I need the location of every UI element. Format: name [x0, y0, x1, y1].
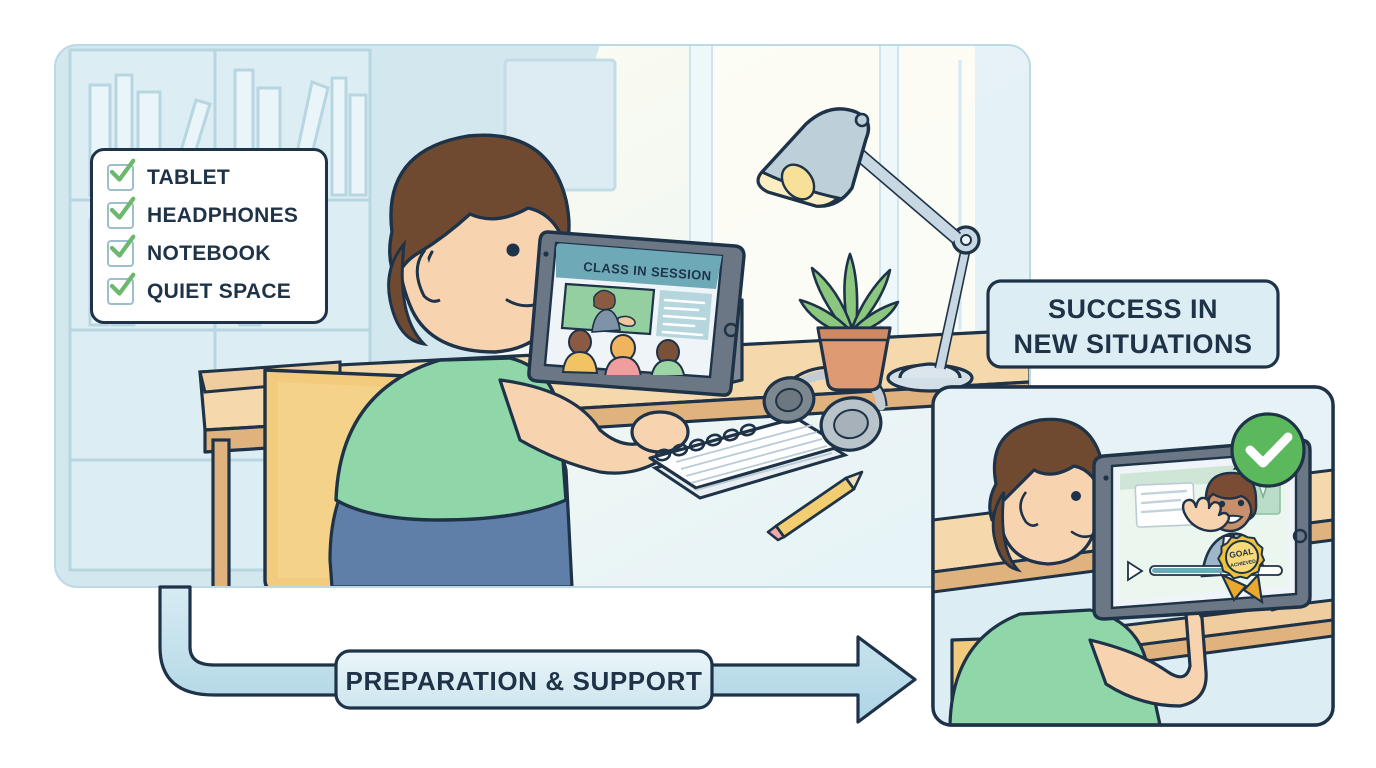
class-tablet[interactable]: CLASS IN SESSION: [529, 232, 744, 395]
checkbox-checked-icon[interactable]: [107, 240, 134, 267]
checkbox-checked-icon[interactable]: [107, 202, 134, 229]
list-item[interactable]: TABLET: [107, 164, 311, 191]
illustration-canvas: CLASS IN SESSION: [0, 0, 1376, 768]
teacher-video-tile: [562, 284, 654, 334]
checklist-label: QUIET SPACE: [147, 280, 291, 304]
list-item[interactable]: QUIET SPACE: [107, 278, 311, 305]
tablet-text-card: [656, 290, 712, 340]
checkbox-checked-icon[interactable]: [107, 164, 134, 191]
callout-line-1: SUCCESS IN: [1048, 294, 1218, 324]
checklist-label: TABLET: [147, 166, 230, 190]
callout-line-2: NEW SITUATIONS: [1014, 329, 1253, 359]
success-inset-panel: GOAL ACHIEVED: [933, 387, 1333, 725]
success-callout: SUCCESS IN NEW SITUATIONS: [988, 281, 1278, 367]
checkbox-checked-icon[interactable]: [107, 278, 134, 305]
arrow-label-chip: PREPARATION & SUPPORT: [336, 651, 712, 708]
list-item[interactable]: NOTEBOOK: [107, 240, 311, 267]
green-check-bubble: [1232, 414, 1304, 486]
illustration-svg: CLASS IN SESSION: [0, 0, 1376, 768]
checklist-label: NOTEBOOK: [147, 242, 271, 266]
checklist-label: HEADPHONES: [147, 204, 298, 228]
arrow-label-text: PREPARATION & SUPPORT: [346, 666, 703, 696]
preparation-checklist: TABLET HEADPHONES NOTEBOOK: [90, 148, 328, 324]
list-item[interactable]: HEADPHONES: [107, 202, 311, 229]
